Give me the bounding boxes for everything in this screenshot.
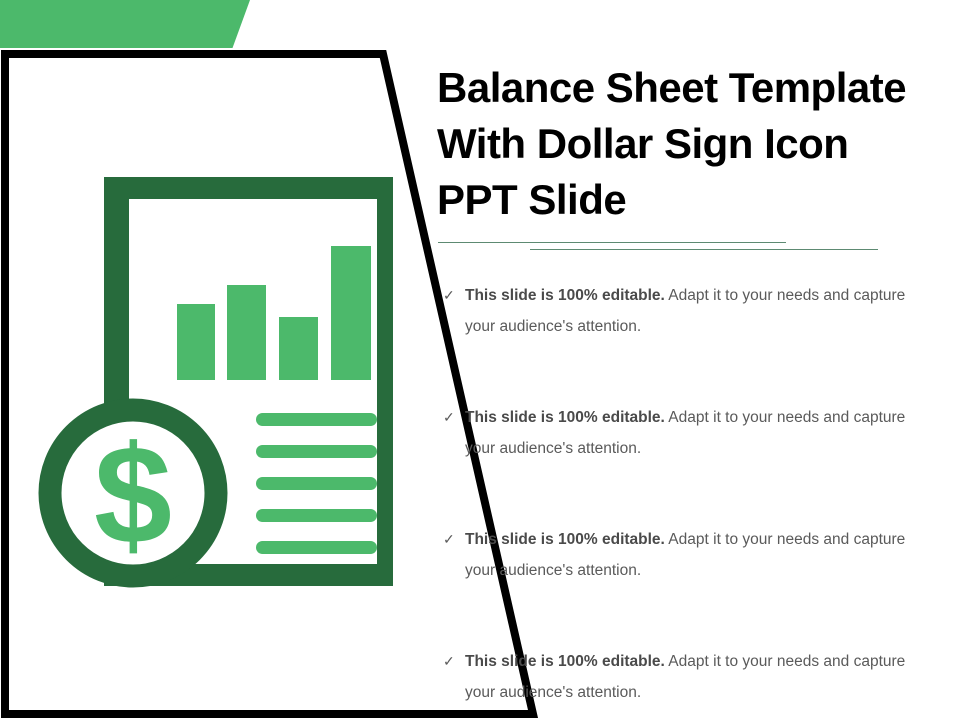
- check-icon: ✓: [443, 646, 455, 677]
- chart-bar-1: [177, 304, 215, 380]
- bullet-strong-text: This slide is 100% editable.: [465, 287, 665, 304]
- list-item: ✓ This slide is 100% editable. Adapt it …: [437, 646, 937, 708]
- bullet-strong-text: This slide is 100% editable.: [465, 531, 665, 548]
- list-item: ✓ This slide is 100% editable. Adapt it …: [437, 524, 937, 586]
- bar-chart-group: [177, 246, 371, 380]
- chart-bar-4: [331, 246, 371, 380]
- green-parallelogram-accent: [0, 0, 250, 48]
- divider-group: [437, 238, 937, 258]
- page-title: Balance Sheet Template With Dollar Sign …: [437, 60, 927, 228]
- dollar-coin-icon: $: [38, 398, 228, 588]
- svg-text:$: $: [94, 416, 172, 573]
- document-text-line: [256, 413, 377, 426]
- divider-line-bottom: [530, 249, 878, 250]
- document-text-line: [256, 509, 377, 522]
- bullet-list: ✓ This slide is 100% editable. Adapt it …: [437, 280, 937, 708]
- bullet-strong-text: This slide is 100% editable.: [465, 409, 665, 426]
- chart-bar-2: [227, 285, 266, 380]
- content-column: Balance Sheet Template With Dollar Sign …: [437, 60, 937, 708]
- check-icon: ✓: [443, 402, 455, 433]
- chart-bar-3: [279, 317, 318, 380]
- list-item: ✓ This slide is 100% editable. Adapt it …: [437, 280, 937, 342]
- check-icon: ✓: [443, 524, 455, 555]
- slide-canvas: $ Balance Sheet Template With Dollar Sig…: [0, 0, 960, 720]
- document-text-line: [256, 445, 377, 458]
- list-item: ✓ This slide is 100% editable. Adapt it …: [437, 402, 937, 464]
- document-text-line: [256, 541, 377, 554]
- document-text-line: [256, 477, 377, 490]
- check-icon: ✓: [443, 280, 455, 311]
- bullet-strong-text: This slide is 100% editable.: [465, 653, 665, 670]
- document-text-lines: [256, 413, 377, 554]
- divider-line-top: [438, 242, 786, 243]
